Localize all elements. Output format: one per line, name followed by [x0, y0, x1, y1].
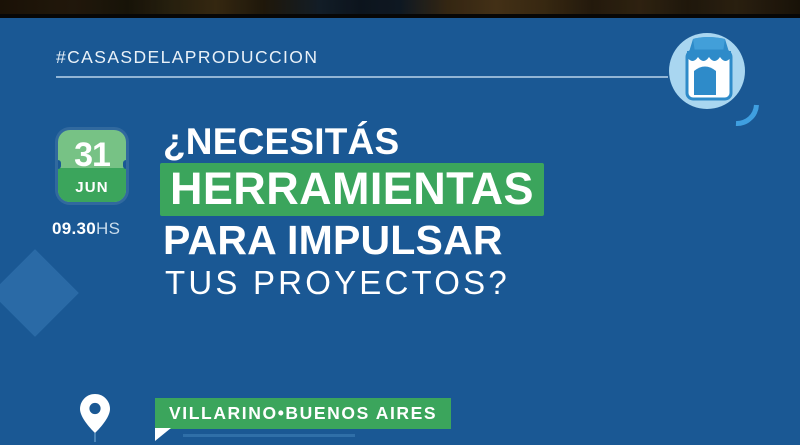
headline-line-1: ¿NECESITÁS — [163, 121, 399, 163]
map-pin-icon — [78, 392, 112, 442]
market-stall-icon — [663, 27, 755, 115]
event-time-unit: HS — [96, 219, 120, 238]
photo-strip-band — [0, 0, 800, 18]
date-badge-notch-right — [123, 160, 126, 169]
location-underline-rule — [183, 434, 355, 437]
brand-logo — [663, 27, 755, 115]
hashtag-label: #CASASDELAPRODUCCION — [56, 47, 318, 68]
location-banner: VILLARINO•BUENOS AIRES — [155, 398, 451, 429]
event-date-badge: 31 JUN — [58, 130, 126, 202]
location-label: VILLARINO•BUENOS AIRES — [169, 404, 437, 422]
headline-line-3: PARA IMPULSAR — [163, 217, 503, 264]
location-banner-tail — [155, 428, 171, 441]
date-day-number: 31 — [58, 134, 126, 177]
promotional-poster: #CASASDELAPRODUCCION 31 JUN 09.30HS ¿NEC… — [0, 0, 800, 445]
event-time-value: 09.30 — [52, 219, 96, 238]
event-time: 09.30HS — [52, 219, 120, 239]
date-month-label: JUN — [58, 179, 126, 196]
header-divider-rule — [56, 76, 668, 78]
headline-highlight-bar: HERRAMIENTAS — [160, 163, 544, 216]
headline-line-4: TUS PROYECTOS? — [165, 264, 510, 302]
headline-line-2: HERRAMIENTAS — [170, 166, 534, 211]
decorative-diamond-shape — [0, 249, 79, 337]
